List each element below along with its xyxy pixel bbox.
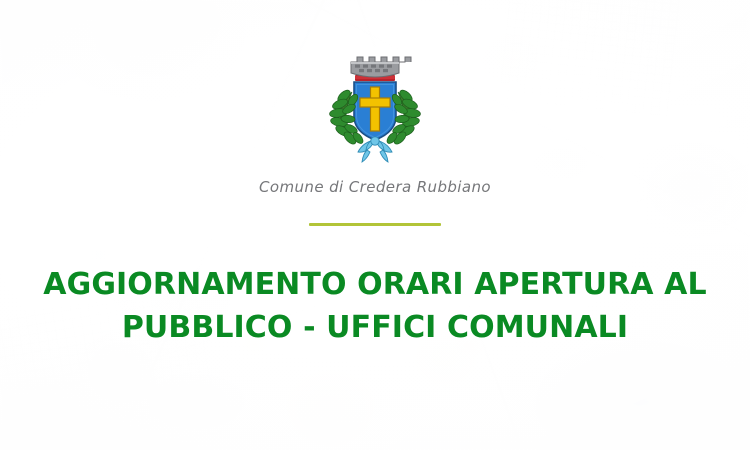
page-title: AGGIORNAMENTO ORARI APERTURA AL PUBBLICO…	[0, 263, 750, 349]
comune-name: Comune di Credera Rubbiano	[0, 178, 750, 196]
page-title-line-1: AGGIORNAMENTO ORARI APERTURA AL	[0, 263, 750, 306]
announcement-banner: Comune di Credera Rubbiano AGGIORNAMENTO…	[0, 0, 750, 450]
divider	[309, 223, 441, 226]
coat-of-arms-icon	[315, 52, 435, 170]
page-title-line-2: PUBBLICO - UFFICI COMUNALI	[0, 306, 750, 349]
banner-content: Comune di Credera Rubbiano AGGIORNAMENTO…	[0, 0, 750, 450]
